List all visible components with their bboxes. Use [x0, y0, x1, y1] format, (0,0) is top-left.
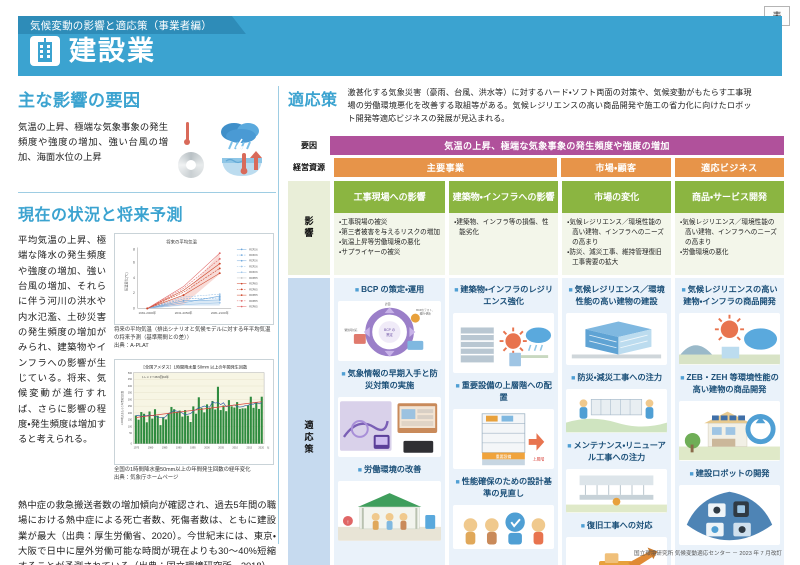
svg-text:RCP2.6: RCP2.6: [249, 271, 258, 274]
impact-card-items: ・気候レジリエンス／環境性能の高い建物、インフラへのニーズの高まり ・防災、減災…: [562, 213, 671, 274]
site-tent-workers: !: [338, 481, 441, 541]
list-item: ・労働環境の悪化: [680, 248, 779, 258]
factors-row: 気温の上昇、極端な気象事象の発生頻度や強度の増加、強い台風の増加、海面水位の上昇: [18, 120, 276, 182]
svg-text:BCPのテスト、: BCPのテスト、: [416, 308, 434, 312]
svg-text:150: 150: [128, 419, 133, 422]
svg-text:200: 200: [128, 412, 133, 415]
impact-card: 工事現場への影響 ・工事現場の被災 ・第三者被害を与えるリスクの増加 ・気温上昇…: [334, 181, 445, 274]
resource-market-customer: 市場・顧客: [561, 158, 670, 177]
charts-column: 将来の平均気温 0 2 4 6 8 気温変化(℃): [114, 233, 274, 492]
adaptation-band: 適応策 BCP の策定・運用 BCP の 策定: [288, 278, 784, 565]
impact-card-title: 市場の変化: [562, 181, 671, 213]
svg-text:1981-2000年: 1981-2000年: [138, 310, 156, 315]
svg-text:400: 400: [128, 385, 133, 388]
list-item: ・サプライヤーの被災: [339, 248, 440, 258]
rain-cloud-icon: [218, 120, 264, 152]
list-item: ・工事現場の被災: [339, 218, 440, 228]
svg-text:450: 450: [128, 379, 133, 382]
svg-text:1990: 1990: [176, 447, 182, 450]
svg-text:気温変化(℃): 気温変化(℃): [123, 272, 128, 291]
svg-text:1980: 1980: [148, 447, 154, 450]
svg-text:維持・更新: 維持・更新: [420, 312, 432, 316]
svg-text:2000: 2000: [204, 447, 210, 450]
section-title-factors: 主な影響の要因: [18, 86, 276, 111]
adaptation-col-1: BCP の策定・運用 BCP の 策定: [334, 278, 445, 565]
svg-text:2020: 2020: [258, 447, 264, 450]
page-title: 建設業: [69, 38, 156, 65]
impact-band: 影響 工事現場への影響 ・工事現場の被災 ・第三者被害を与えるリスクの増加 ・気…: [288, 181, 784, 274]
impact-card-title: 商品・サービス開発: [675, 181, 784, 213]
list-item: ・気候レジリエンス／環境性能の高い建物、インフラへのニーズの高まり: [680, 218, 779, 248]
svg-text:計画: 計画: [385, 302, 391, 306]
svg-text:RCP8.5: RCP8.5: [249, 300, 258, 303]
svg-text:緊急時対応: 緊急時対応: [344, 328, 357, 332]
svg-text:1985: 1985: [162, 447, 168, 450]
outlook-row: 平均気温の上昇、極端な降水の発生頻度や強度の増加、強い台風の増加、それらに伴う河…: [18, 233, 276, 492]
adaptation-col-4: 気候レジリエンスの高い建物・インフラの商品開発: [675, 278, 784, 565]
svg-text:RCP8.5: RCP8.5: [249, 294, 258, 297]
section-title-outlook: 現在の状況と将来予測: [18, 201, 276, 225]
chart1-svg: 将来の平均気温 0 2 4 6 8 気温変化(℃): [118, 236, 270, 318]
svg-text:2015: 2015: [247, 447, 253, 450]
driver-bar: 気温の上昇、極端な気象事象の発生頻度や強度の増加: [330, 136, 784, 155]
svg-text:重要設備: 重要設備: [496, 454, 512, 459]
svg-text:2081-2100年: 2081-2100年: [211, 310, 229, 315]
chart2-svg: ［全国アメダス］1時間降水量 50mm 以上の年間発生回数 トレンド＝28.9回…: [118, 362, 270, 458]
outlook-text: 平均気温の上昇、極端な降水の発生頻度や強度の増加、強い台風の増加、それらに伴う河…: [18, 233, 106, 492]
impact-card-items: ・工事現場の被災 ・第三者被害を与えるリスクの増加 ・気温上昇等労働環境の悪化 …: [334, 213, 445, 265]
resource-row: 経営資源 主要事業 市場・顧客 適応ビジネス: [288, 158, 784, 177]
svg-text:300: 300: [128, 399, 133, 402]
header-title-row: 建設業: [30, 36, 156, 66]
thermometer-icon: [184, 122, 190, 148]
impact-col-2: 建築物・インフラへの影響 ・建築物、インフラ等の損傷、性能劣化: [449, 181, 558, 274]
adaptation-item-title: 防災・減災工事への注力: [566, 370, 667, 387]
adaptation-columns: BCP の策定・運用 BCP の 策定: [330, 278, 784, 565]
svg-text:50: 50: [129, 432, 132, 435]
adaptation-heading-row: 適応策 激甚化する気象災害（豪雨、台風、洪水等）に対するハード・ソフト両面の対策…: [288, 86, 784, 125]
resilient-product-development: [679, 313, 780, 365]
high-performance-building: [566, 313, 667, 365]
adaptation-item-title: 建築物・インフラのレジリエンス強化: [453, 282, 554, 311]
svg-text:1,000地点あたりの年間発生回数: 1,000地点あたりの年間発生回数: [120, 391, 124, 426]
zeb-zeh-house: [679, 401, 780, 461]
driver-row: 要因 気温の上昇、極端な気象事象の発生頻度や強度の増加: [288, 136, 784, 155]
building-resilience: [453, 313, 554, 373]
svg-text:策定: 策定: [386, 332, 393, 337]
column-divider: [278, 86, 279, 544]
svg-text:250: 250: [128, 406, 133, 409]
header-ribbon: 気候変動の影響と適応策（事業者編）: [18, 16, 246, 34]
bcp-cycle-diagram: BCP の 策定 計画 BCPのテスト、 維持・更新 緊急時対応: [338, 301, 441, 361]
svg-text:将来の平均気温: 将来の平均気温: [166, 239, 197, 246]
svg-text:100: 100: [128, 426, 133, 429]
driver-label: 要因: [288, 136, 330, 155]
adaptation-card: 気候レジリエンスの高い建物・インフラの商品開発: [675, 278, 784, 565]
adaptation-item-title: 気候レジリエンスの高い建物・インフラの商品開発: [679, 282, 780, 311]
impact-col-3: 市場の変化 ・気候レジリエンス／環境性能の高い建物、インフラへのニーズの高まり …: [562, 181, 671, 274]
building-icon: [30, 36, 60, 66]
svg-text:2010: 2010: [232, 447, 238, 450]
list-item: ・第三者被害を与えるリスクの増加: [339, 228, 440, 238]
right-column: 適応策 激甚化する気象災害（豪雨、台風、洪水等）に対するハード・ソフト両面の対策…: [288, 86, 784, 565]
svg-text:トレンド＝28.9回/10年: トレンド＝28.9回/10年: [141, 375, 169, 379]
left-column: 主な影響の要因 気温の上昇、極端な気象事象の発生頻度や強度の増加、強い台風の増加…: [18, 86, 276, 548]
svg-text:350: 350: [128, 392, 133, 395]
svg-text:RCP8.5: RCP8.5: [249, 306, 258, 309]
impact-card: 商品・サービス開発 ・気候レジリエンス／環境性能の高い建物、インフラへのニーズの…: [675, 181, 784, 274]
svg-text:6: 6: [133, 261, 135, 265]
svg-text:RCP8.5: RCP8.5: [249, 277, 258, 280]
factors-text: 気温の上昇、極端な気象事象の発生頻度や強度の増加、強い台風の増加、海面水位の上昇: [18, 120, 168, 182]
chart2-source: 出典：気象庁ホームページ: [114, 475, 274, 483]
design-standard-review: [453, 505, 554, 549]
impact-label: 影響: [288, 181, 330, 274]
svg-text:BCP の: BCP の: [384, 328, 396, 332]
impact-col-4: 商品・サービス開発 ・気候レジリエンス／環境性能の高い建物、インフラへのニーズの…: [675, 181, 784, 274]
svg-text:2005: 2005: [218, 447, 224, 450]
impact-card-items: ・気候レジリエンス／環境性能の高い建物、インフラへのニーズの高まり ・労働環境の…: [675, 213, 784, 265]
impact-col-1: 工事現場への影響 ・工事現場の被災 ・第三者被害を与えるリスクの増加 ・気温上昇…: [334, 181, 445, 274]
typhoon-spiral-icon: [178, 152, 204, 178]
resource-label: 経営資源: [288, 158, 330, 177]
adaptation-item-title: 労働環境の改善: [338, 462, 441, 479]
adaptation-item-title: 復旧工事への対応: [566, 518, 667, 535]
svg-text:RCP8.5: RCP8.5: [249, 288, 258, 291]
adaptation-card: 建築物・インフラのレジリエンス強化: [449, 278, 558, 565]
factors-icon-group: [174, 120, 270, 182]
footer-credit: 国立環境研究所 気候変動適応センター － 2023 年 7 月改訂: [634, 549, 782, 557]
maintenance-renewal: [566, 469, 667, 513]
adaptation-item-title: BCP の策定・運用: [338, 282, 441, 299]
adaptation-card: BCP の策定・運用 BCP の 策定: [334, 278, 445, 565]
svg-text:RCP2.6: RCP2.6: [249, 248, 258, 251]
matrix: 要因 気温の上昇、極端な気象事象の発生頻度や強度の増加 経営資源 主要事業 市場…: [288, 136, 784, 565]
adaptation-intro: 激甚化する気象災害（豪雨、台風、洪水等）に対するハード・ソフト両面の対策や、気候…: [348, 86, 752, 125]
adaptation-item-title: 性能確保のための設計基準の見直し: [453, 474, 554, 503]
impact-card-title: 工事現場への影響: [334, 181, 445, 213]
svg-text:［全国アメダス］1時間降水量 50mm 以上の年間発生回数: ［全国アメダス］1時間降水量 50mm 以上の年間発生回数: [141, 364, 247, 370]
adaptation-item-title: 気候レジリエンス／環境性能の高い建物の建設: [566, 282, 667, 311]
adaptation-item-title: 建設ロボットの開発: [679, 466, 780, 483]
svg-text:RCP2.6: RCP2.6: [249, 254, 258, 257]
adaptation-heading: 適応策: [288, 86, 338, 110]
construction-robot: [679, 485, 780, 545]
list-item: ・気温上昇等労働環境の悪化: [339, 238, 440, 248]
list-item: ・気候レジリエンス／環境性能の高い建物、インフラへのニーズの高まり: [567, 218, 666, 248]
equipment-upper-floor: 重要設備 上層階: [453, 409, 554, 469]
impact-card-items: ・建築物、インフラ等の損傷、性能劣化: [449, 213, 558, 245]
svg-text:1995: 1995: [190, 447, 196, 450]
svg-text:年: 年: [267, 446, 270, 450]
adaptation-item-title: メンテナンス・リニューアル工事への注力: [566, 438, 667, 467]
left-divider: [18, 192, 276, 193]
svg-text:RCP8.5: RCP8.5: [249, 283, 258, 286]
outlook-tail-text: 熱中症の救急搬送者数の増加傾向が確認され、過去5年間の職場における熱中症による死…: [18, 498, 276, 565]
adaptation-item-title: ZEB・ZEH 等環境性能の高い建物の商品開発: [679, 370, 780, 399]
impact-card: 建築物・インフラへの影響 ・建築物、インフラ等の損傷、性能劣化: [449, 181, 558, 274]
resource-main-business: 主要事業: [334, 158, 557, 177]
chart-future-temperature: 将来の平均気温 0 2 4 6 8 気温変化(℃): [114, 233, 274, 325]
svg-text:2031-2050年: 2031-2050年: [175, 310, 193, 315]
disaster-prevention-work: [566, 389, 667, 433]
chart2-caption: 全国の1時間降水量50mm以上の年間発生回数の経年変化 出典：気象庁ホームページ: [114, 467, 274, 483]
svg-text:0: 0: [131, 443, 133, 446]
svg-text:0: 0: [133, 306, 135, 310]
sea-level-rise-icon: [218, 150, 266, 180]
adaptation-card: 気候レジリエンス／環境性能の高い建物の建設: [562, 278, 671, 565]
chart-heavy-rain-frequency: ［全国アメダス］1時間降水量 50mm 以上の年間発生回数 トレンド＝28.9回…: [114, 359, 274, 465]
adaptation-item-title: 重要設備の上層階への配置: [453, 378, 554, 407]
adaptation-col-3: 気候レジリエンス／環境性能の高い建物の建設: [562, 278, 671, 565]
adaptation-label: 適応策: [288, 278, 330, 565]
svg-text:!: !: [347, 519, 348, 525]
impact-card-title: 建築物・インフラへの影響: [449, 181, 558, 213]
svg-text:8: 8: [133, 247, 135, 251]
adaptation-col-2: 建築物・インフラのレジリエンス強化: [449, 278, 558, 565]
svg-text:2: 2: [133, 291, 135, 295]
impact-columns: 工事現場への影響 ・工事現場の被災 ・第三者被害を与えるリスクの増加 ・気温上昇…: [330, 181, 784, 274]
weather-info-smartphone: [338, 397, 441, 457]
list-item: ・建築物、インフラ等の損傷、性能劣化: [454, 218, 553, 238]
svg-text:RCP2.6: RCP2.6: [249, 265, 258, 268]
svg-text:上層階: 上層階: [533, 456, 545, 461]
page-root: 表 気候変動の影響と適応策（事業者編） 建設業 主な影響の要因 気温の上昇、極端…: [0, 0, 800, 565]
svg-text:1975: 1975: [134, 447, 140, 450]
adaptation-item-title: 気象情報の早期入手と防災対策の実施: [338, 366, 441, 395]
chart1-caption: 将来の平均気温（排出シナリオと気候モデルに対する年平均気温の将来予測（基準期間と…: [114, 327, 274, 350]
resource-adaptation-business: 適応ビジネス: [675, 158, 784, 177]
svg-text:4: 4: [133, 276, 135, 280]
chart1-source: 出典：A-PLAT: [114, 343, 274, 351]
svg-text:RCP2.6: RCP2.6: [249, 260, 258, 263]
svg-text:500: 500: [128, 372, 133, 375]
list-item: ・防災、減災工事、維持管理復旧工事需要の拡大: [567, 248, 666, 268]
impact-card: 市場の変化 ・気候レジリエンス／環境性能の高い建物、インフラへのニーズの高まり …: [562, 181, 671, 274]
